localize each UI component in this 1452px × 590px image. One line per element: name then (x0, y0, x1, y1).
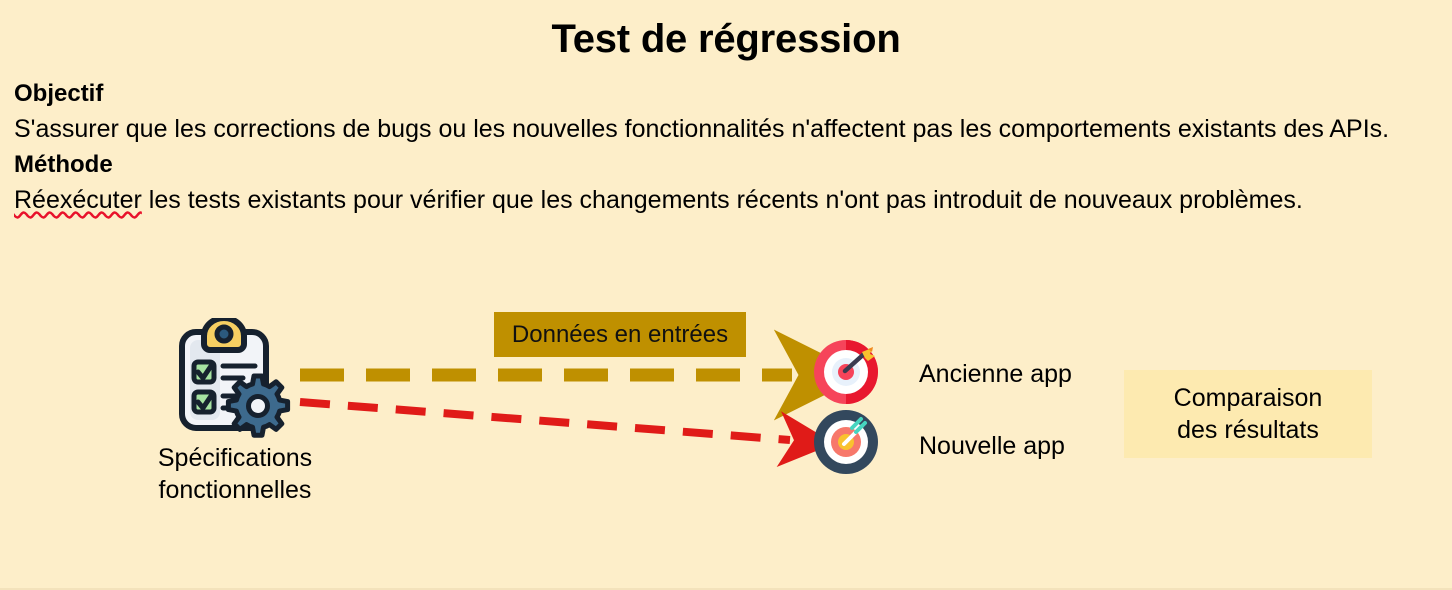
slide-canvas: Test de régression Objectif S'assurer qu… (0, 0, 1452, 590)
section-body-methode-rest: les tests existants pour vérifier que le… (142, 186, 1303, 214)
spellcheck-misspelled-word: Réexécuter (14, 186, 142, 214)
red-dashed-arrow (300, 402, 790, 440)
comparison-result-box: Comparaison des résultats (1124, 370, 1372, 458)
regression-flow-diagram: Spécifications fonctionnelles Données en… (0, 300, 1452, 530)
specifications-label: Spécifications fonctionnelles (120, 442, 350, 506)
section-body-objectif: S'assurer que les corrections de bugs ou… (14, 110, 1438, 149)
input-data-box: Données en entrées (494, 312, 746, 357)
old-app-label: Ancienne app (919, 360, 1072, 389)
specifications-label-line2: fonctionnelles (120, 474, 350, 506)
section-heading-methode: Méthode (14, 149, 1438, 181)
clipboard-checklist-gear-icon (170, 318, 295, 438)
new-app-label: Nouvelle app (919, 432, 1065, 461)
comparison-result-line1: Comparaison (1174, 382, 1323, 415)
page-title: Test de régression (0, 16, 1452, 62)
section-body-methode: Réexécuter les tests existants pour véri… (14, 181, 1438, 220)
content-text-block: Objectif S'assurer que les corrections d… (14, 78, 1438, 220)
specifications-label-line1: Spécifications (120, 442, 350, 474)
comparison-result-line2: des résultats (1177, 414, 1319, 447)
target-bullseye-red-icon (812, 338, 880, 406)
target-bullseye-navy-icon (812, 408, 880, 476)
section-heading-objectif: Objectif (14, 78, 1438, 110)
